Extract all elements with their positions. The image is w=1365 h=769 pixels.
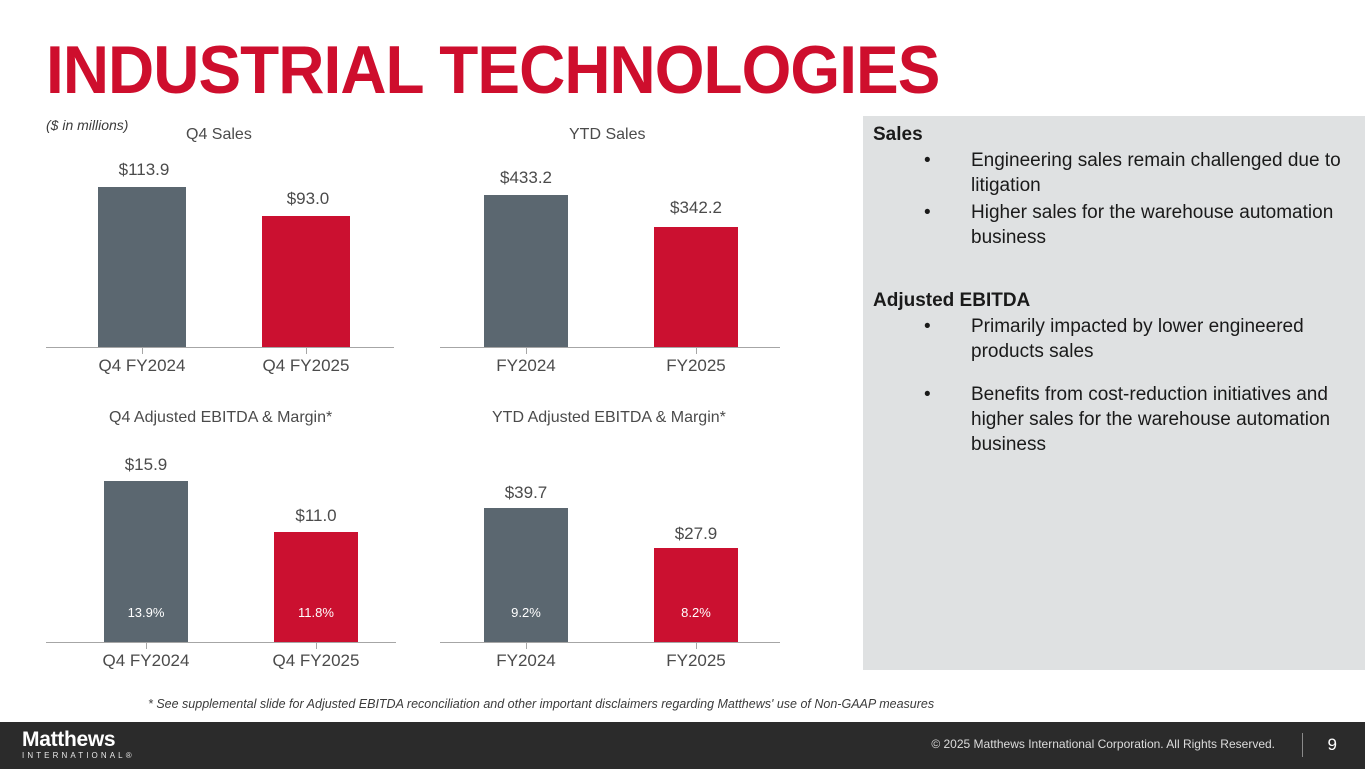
units-note: ($ in millions) [46,117,128,133]
bar-value-label: $27.9 [654,524,738,544]
bullet-icon: • [924,382,931,407]
bullet-icon: • [924,200,931,225]
chart-ytd-sales: $433.2 FY2024 $342.2 FY2025 [440,160,780,348]
list-item: • Engineering sales remain challenged du… [871,148,1349,198]
axis-tick [316,643,317,649]
list-item: • Primarily impacted by lower engineered… [871,314,1349,364]
bullet-icon: • [924,314,931,339]
bullet-icon: • [924,148,931,173]
category-label: Q4 FY2025 [236,356,376,376]
category-label: FY2024 [456,651,596,671]
axis-tick [306,348,307,354]
panel-heading-sales: Sales [873,124,1349,146]
axis-tick [142,348,143,354]
axis-line [440,347,780,348]
bar-ytd-ebitda-fy2024 [484,508,568,642]
bar-margin-label: 13.9% [104,605,188,620]
bar-value-label: $11.0 [274,506,358,526]
copyright-text: © 2025 Matthews International Corporatio… [931,737,1275,751]
bar-margin-label: 8.2% [654,605,738,620]
axis-tick [526,348,527,354]
axis-line [46,642,396,643]
bar-value-label: $39.7 [484,483,568,503]
page-number: 9 [1328,735,1337,755]
bar-value-label: $113.9 [102,160,186,180]
logo-subtitle: INTERNATIONAL® [22,751,135,761]
commentary-panel: Sales • Engineering sales remain challen… [863,116,1365,670]
axis-tick [146,643,147,649]
category-label: FY2025 [626,651,766,671]
list-item-text: Primarily impacted by lower engineered p… [971,316,1304,362]
footer-divider [1302,733,1303,757]
logo-wordmark: Matthews [22,729,135,751]
chart-q4-sales: $113.9 Q4 FY2024 $93.0 Q4 FY2025 [46,160,394,348]
matthews-logo: Matthews INTERNATIONAL® [22,729,135,761]
bar-ytd-sales-fy2025 [654,227,738,347]
page-title: INDUSTRIAL TECHNOLOGIES [46,36,939,104]
bar-margin-label: 11.8% [274,605,358,620]
bar-margin-label: 9.2% [484,605,568,620]
list-item-text: Benefits from cost-reduction initiatives… [971,384,1330,455]
footnote: * See supplemental slide for Adjusted EB… [148,697,934,711]
axis-tick [526,643,527,649]
bar-q4-ebitda-fy2025 [274,532,358,642]
bar-value-label: $93.0 [266,189,350,209]
chart-ytd-ebitda: $39.7 9.2% FY2024 $27.9 8.2% FY2025 [440,455,780,643]
bar-q4-sales-fy2024 [98,187,186,347]
category-label: Q4 FY2025 [246,651,386,671]
axis-line [46,347,394,348]
bar-ytd-sales-fy2024 [484,195,568,347]
chart-title-ytd-sales: YTD Sales [569,126,645,144]
sales-bullet-list: • Engineering sales remain challenged du… [871,148,1349,250]
chart-title-ytd-ebitda: YTD Adjusted EBITDA & Margin* [492,409,726,427]
category-label: Q4 FY2024 [76,651,216,671]
footer-bar: Matthews INTERNATIONAL® © 2025 Matthews … [0,722,1365,769]
list-item: • Higher sales for the warehouse automat… [871,200,1349,250]
chart-title-q4-ebitda: Q4 Adjusted EBITDA & Margin* [109,409,332,427]
chart-q4-ebitda: $15.9 13.9% Q4 FY2024 $11.0 11.8% Q4 FY2… [46,455,396,643]
list-item-text: Engineering sales remain challenged due … [971,150,1341,196]
chart-title-q4-sales: Q4 Sales [186,126,252,144]
list-item: • Benefits from cost-reduction initiativ… [871,382,1349,457]
bar-ytd-ebitda-fy2025 [654,548,738,642]
category-label: FY2025 [626,356,766,376]
bar-value-label: $433.2 [484,168,568,188]
category-label: Q4 FY2024 [72,356,212,376]
axis-tick [696,643,697,649]
category-label: FY2024 [456,356,596,376]
panel-heading-adjusted-ebitda: Adjusted EBITDA [873,290,1349,312]
list-item-text: Higher sales for the warehouse automatio… [971,202,1333,248]
axis-line [440,642,780,643]
axis-tick [696,348,697,354]
bar-value-label: $342.2 [654,198,738,218]
ebitda-bullet-list: • Primarily impacted by lower engineered… [871,314,1349,457]
bar-value-label: $15.9 [104,455,188,475]
bar-q4-sales-fy2025 [262,216,350,347]
